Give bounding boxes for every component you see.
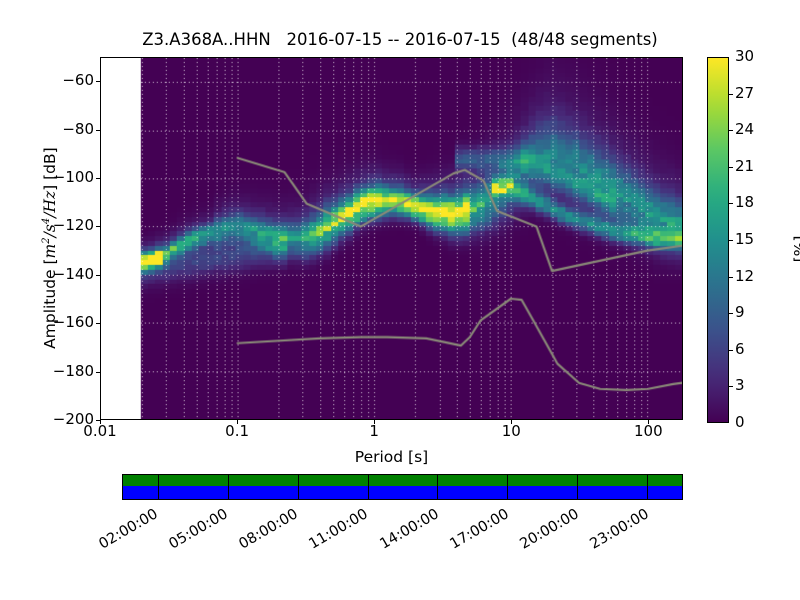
coverage-tick-label: 17:00:00 bbox=[438, 507, 511, 558]
y-axis-tick-labels: −60−80−100−120−140−160−180−200 bbox=[28, 0, 94, 600]
colorbar-tick-mark bbox=[729, 313, 733, 314]
coverage-tick-label: 23:00:00 bbox=[578, 507, 651, 558]
colorbar-tick-label: 21 bbox=[735, 159, 754, 174]
colorbar-tick-mark bbox=[729, 240, 733, 241]
colorbar-tick-mark bbox=[729, 130, 733, 131]
colorbar-tick-label: 27 bbox=[735, 86, 754, 101]
y-axis-label: Amplitude [m2/s4/Hz] [dB] bbox=[41, 48, 59, 448]
x-axis-label: Period [s] bbox=[100, 448, 683, 466]
data-coverage-axes bbox=[122, 474, 683, 500]
y-axis-label-slash1: / bbox=[41, 232, 59, 237]
x-tick-label: 100 bbox=[634, 424, 663, 439]
colorbar-tick-mark bbox=[729, 277, 733, 278]
x-tick-label: 0.01 bbox=[83, 424, 116, 439]
ppsd-axes bbox=[100, 57, 683, 420]
x-tick-label: 10 bbox=[502, 424, 521, 439]
coverage-separator bbox=[507, 475, 508, 499]
x-tick-label: 1 bbox=[369, 424, 379, 439]
coverage-tick-label: 08:00:00 bbox=[228, 507, 301, 558]
colorbar-tick-mark bbox=[729, 203, 733, 204]
plot-title: Z3.A368A..HHN 2016-07-15 -- 2016-07-15 (… bbox=[0, 30, 800, 49]
coverage-tick-label: 14:00:00 bbox=[368, 507, 441, 558]
coverage-band-green bbox=[123, 475, 682, 486]
coverage-separator bbox=[368, 475, 369, 499]
colorbar-tick-mark bbox=[729, 386, 733, 387]
ppsd-histogram-image bbox=[101, 58, 682, 419]
y-axis-label-hz: Hz bbox=[41, 191, 59, 213]
ppsd-figure: Z3.A368A..HHN 2016-07-15 -- 2016-07-15 (… bbox=[0, 0, 800, 600]
x-tick-mark bbox=[100, 420, 101, 424]
coverage-tick-label: 05:00:00 bbox=[158, 507, 231, 558]
y-tick-mark bbox=[96, 323, 100, 324]
x-tick-mark bbox=[237, 420, 238, 424]
y-tick-mark bbox=[96, 226, 100, 227]
x-tick-mark bbox=[648, 420, 649, 424]
colorbar-tick-mark bbox=[729, 167, 733, 168]
colorbar bbox=[707, 57, 729, 423]
coverage-band-blue bbox=[123, 486, 682, 500]
coverage-tick-label: 20:00:00 bbox=[508, 507, 581, 558]
x-tick-mark bbox=[374, 420, 375, 424]
colorbar-label: [%] bbox=[791, 149, 800, 349]
colorbar-tick-label: 24 bbox=[735, 122, 754, 137]
colorbar-tick-label: 12 bbox=[735, 269, 754, 284]
colorbar-tick-label: 3 bbox=[735, 378, 745, 393]
y-tick-mark bbox=[96, 178, 100, 179]
colorbar-tick-mark bbox=[729, 350, 733, 351]
x-tick-label: 0.1 bbox=[225, 424, 249, 439]
colorbar-tick-label: 6 bbox=[735, 342, 745, 357]
y-axis-label-s: s bbox=[41, 224, 59, 232]
colorbar-tick-label: 15 bbox=[735, 232, 754, 247]
y-axis-label-s-exponent: 4 bbox=[41, 218, 52, 224]
y-axis-label-suffix: ] [dB] bbox=[41, 147, 59, 191]
coverage-tick-label: 02:00:00 bbox=[87, 507, 160, 558]
y-axis-label-slash2: / bbox=[41, 213, 59, 218]
coverage-tick-label: 11:00:00 bbox=[298, 507, 371, 558]
y-tick-mark bbox=[96, 372, 100, 373]
colorbar-tick-label: 0 bbox=[735, 415, 745, 430]
coverage-separator bbox=[158, 475, 159, 499]
coverage-separator bbox=[437, 475, 438, 499]
y-tick-mark bbox=[96, 81, 100, 82]
y-axis-label-m: m bbox=[41, 244, 59, 259]
colorbar-tick-label: 9 bbox=[735, 305, 745, 320]
coverage-separator bbox=[647, 475, 648, 499]
colorbar-gradient bbox=[708, 58, 728, 422]
colorbar-tick-mark bbox=[729, 94, 733, 95]
coverage-separator bbox=[577, 475, 578, 499]
colorbar-tick-label: 18 bbox=[735, 195, 754, 210]
colorbar-tick-label: 30 bbox=[735, 49, 754, 64]
y-axis-label-m-exponent: 2 bbox=[41, 237, 52, 243]
y-axis-label-prefix: Amplitude [ bbox=[41, 258, 59, 348]
coverage-separator bbox=[228, 475, 229, 499]
y-tick-mark bbox=[96, 130, 100, 131]
x-tick-mark bbox=[511, 420, 512, 424]
coverage-separator bbox=[298, 475, 299, 499]
y-tick-mark bbox=[96, 275, 100, 276]
